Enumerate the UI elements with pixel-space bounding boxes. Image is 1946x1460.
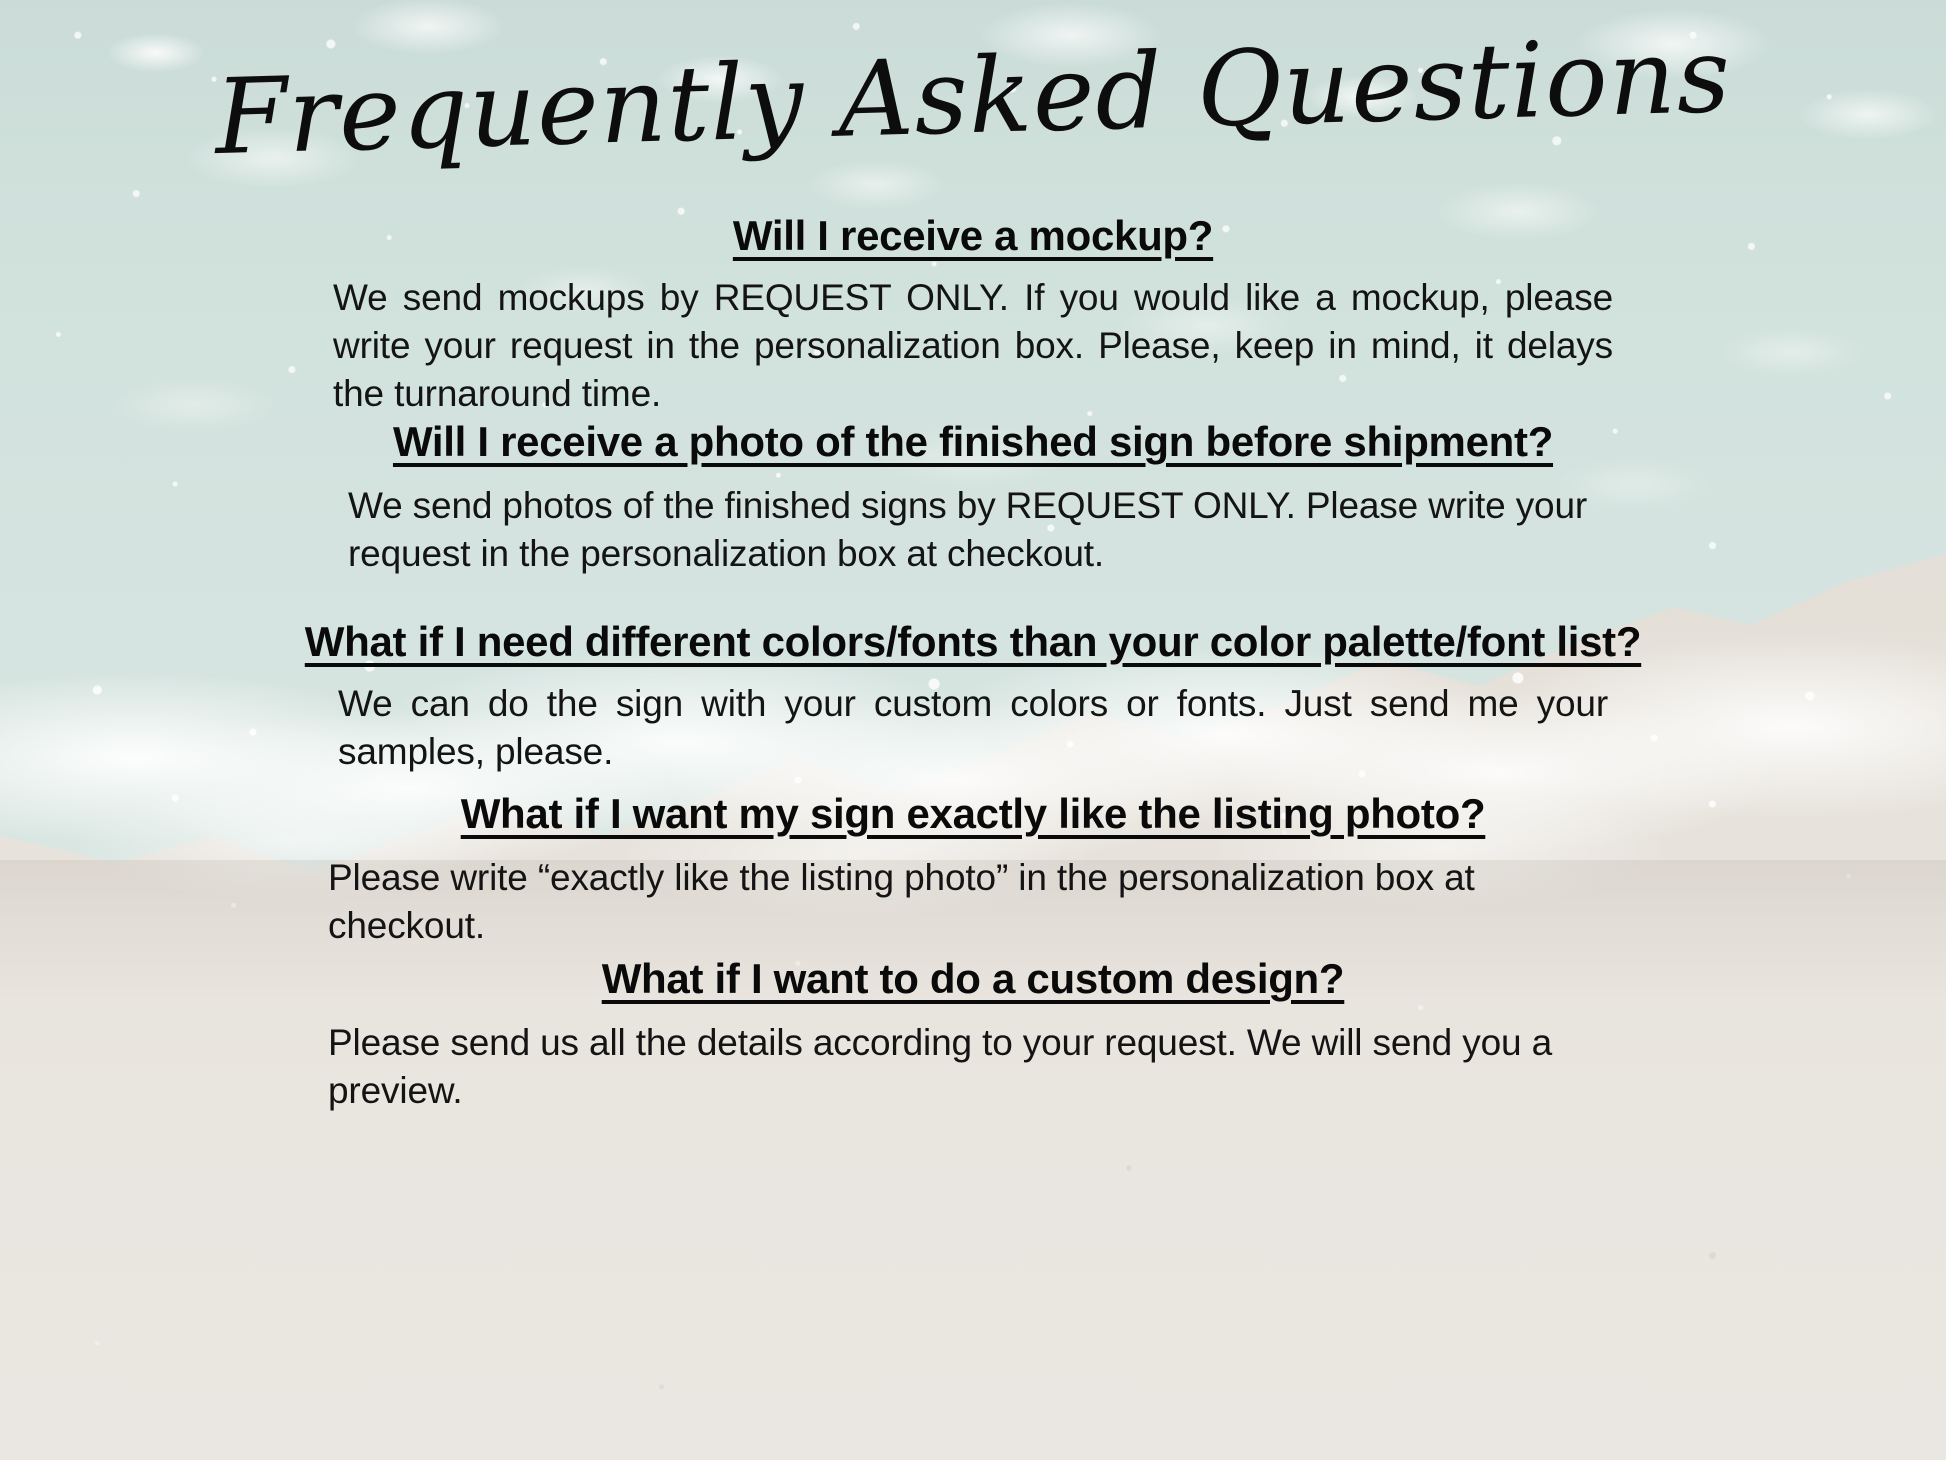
page-title: Frequently Asked Questions bbox=[0, 17, 1946, 175]
faq-answer-5: Please send us all the details according… bbox=[328, 1019, 1618, 1115]
faq-answer-3: We can do the sign with your custom colo… bbox=[338, 680, 1608, 776]
faq-item-3: What if I need different colors/fonts th… bbox=[0, 618, 1946, 776]
faq-question-3: What if I need different colors/fonts th… bbox=[0, 618, 1946, 666]
faq-answer-1: We send mockups by REQUEST ONLY. If you … bbox=[333, 274, 1613, 418]
faq-question-5: What if I want to do a custom design? bbox=[0, 955, 1946, 1003]
faq-item-1: Will I receive a mockup? We send mockups… bbox=[0, 212, 1946, 419]
faq-item-4: What if I want my sign exactly like the … bbox=[0, 790, 1946, 950]
faq-item-5: What if I want to do a custom design? Pl… bbox=[0, 955, 1946, 1115]
faq-answer-4: Please write “exactly like the listing p… bbox=[328, 854, 1618, 950]
faq-content: Frequently Asked Questions Will I receiv… bbox=[0, 0, 1946, 1460]
faq-page: Frequently Asked Questions Will I receiv… bbox=[0, 0, 1946, 1460]
faq-answer-2: We send photos of the finished signs by … bbox=[348, 482, 1598, 578]
faq-question-1: Will I receive a mockup? bbox=[0, 212, 1946, 260]
faq-question-4: What if I want my sign exactly like the … bbox=[0, 790, 1946, 838]
faq-question-2: Will I receive a photo of the finished s… bbox=[0, 418, 1946, 466]
faq-item-2: Will I receive a photo of the finished s… bbox=[0, 418, 1946, 578]
